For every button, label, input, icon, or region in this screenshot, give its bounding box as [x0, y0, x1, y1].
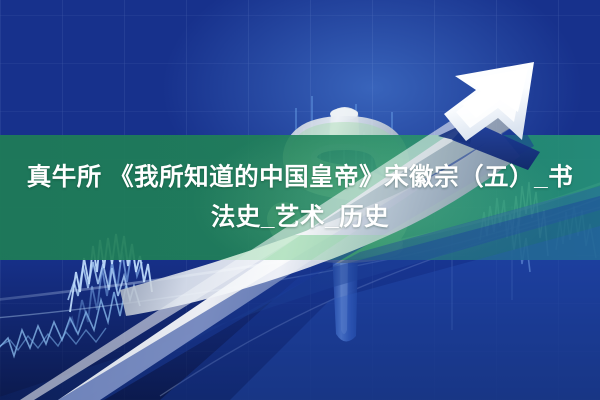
title-line-2: 法史_艺术_历史 [211, 199, 389, 237]
title-line-1: 真牛所 《我所知道的中国皇帝》宋徽宗（五）_书 [27, 159, 573, 197]
banner-title: 真牛所 《我所知道的中国皇帝》宋徽宗（五）_书 法史_艺术_历史 [0, 135, 600, 260]
banner-image: 真牛所 《我所知道的中国皇帝》宋徽宗（五）_书 法史_艺术_历史 [0, 0, 600, 400]
